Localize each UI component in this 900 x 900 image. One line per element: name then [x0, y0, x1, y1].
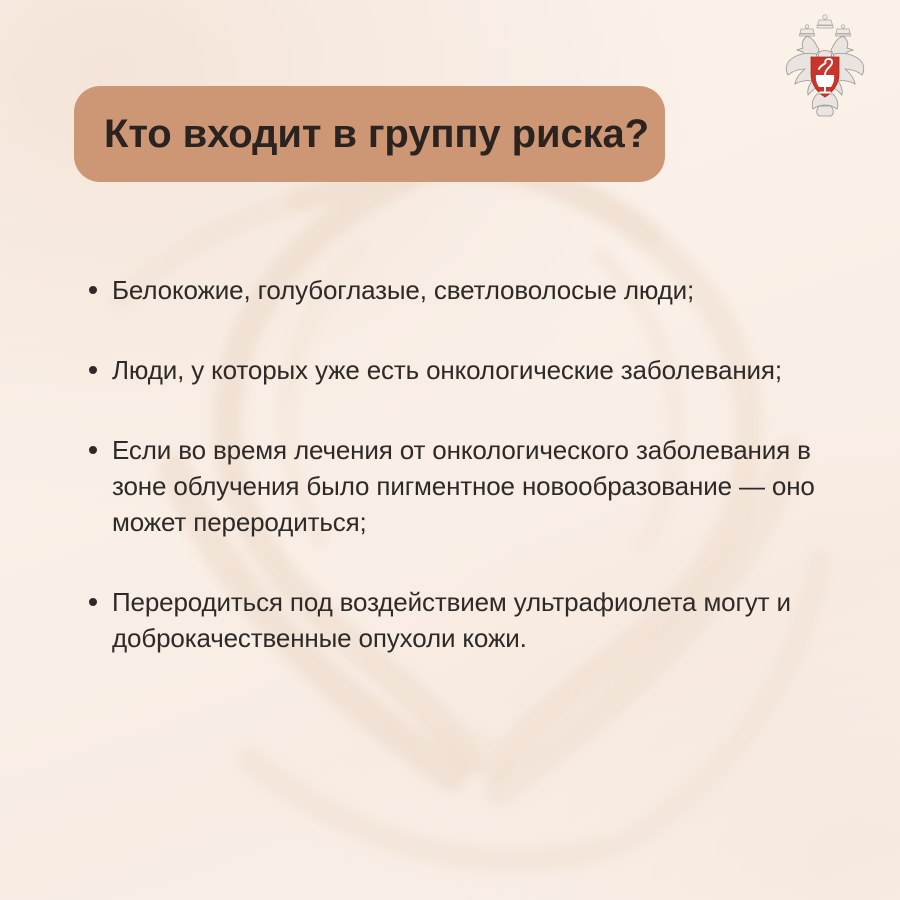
bullet-dot-icon: [89, 446, 97, 454]
risk-group-list: Белокожие, голубоглазые, светловолосые л…: [84, 272, 824, 656]
list-item-text: Переродиться под воздействием ультрафиол…: [112, 584, 824, 656]
page-title: Кто входит в группу риска?: [104, 113, 649, 155]
slide-canvas: Кто входит в группу риска? Белокожие, го…: [0, 0, 900, 900]
list-item-text: Люди, у которых уже есть онкологические …: [112, 352, 824, 388]
shield-icon: [811, 57, 839, 97]
ministry-of-health-emblem: [783, 8, 867, 118]
crown-icon: [800, 15, 851, 36]
bullet-dot-icon: [89, 366, 97, 374]
bullet-dot-icon: [89, 598, 97, 606]
list-item: Белокожие, голубоглазые, светловолосые л…: [84, 272, 824, 308]
list-item: Если во время лечения от онкологического…: [84, 432, 824, 540]
list-item: Люди, у которых уже есть онкологические …: [84, 352, 824, 388]
title-banner: Кто входит в группу риска?: [74, 86, 665, 182]
list-item-text: Белокожие, голубоглазые, светловолосые л…: [112, 272, 824, 308]
bullet-dot-icon: [89, 286, 97, 294]
list-item-text: Если во время лечения от онкологического…: [112, 432, 824, 540]
list-item: Переродиться под воздействием ультрафиол…: [84, 584, 824, 656]
